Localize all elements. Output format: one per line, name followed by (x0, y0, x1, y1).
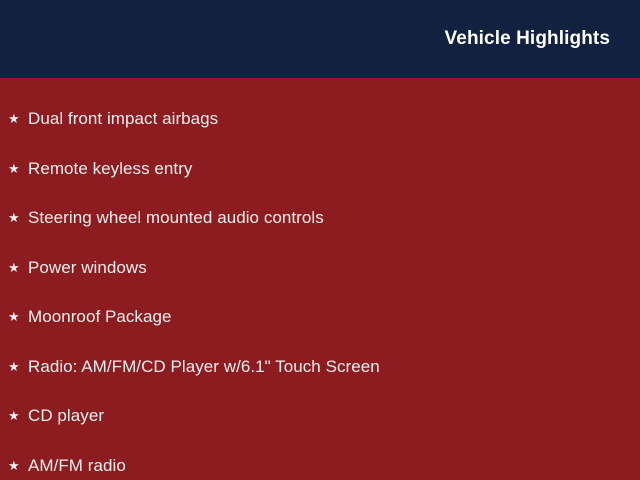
list-item: ★ Remote keyless entry (0, 144, 640, 194)
star-icon: ★ (8, 144, 22, 194)
highlights-panel: ★ Dual front impact airbags ★ Remote key… (0, 78, 640, 480)
list-item-label: Moonroof Package (28, 292, 172, 342)
star-icon: ★ (8, 94, 22, 144)
star-icon: ★ (8, 342, 22, 392)
highlights-list: ★ Dual front impact airbags ★ Remote key… (0, 94, 640, 480)
star-icon: ★ (8, 441, 22, 480)
star-icon: ★ (8, 292, 22, 342)
list-item-label: Radio: AM/FM/CD Player w/6.1" Touch Scre… (28, 342, 380, 392)
list-item-label: Power windows (28, 243, 147, 293)
vehicle-highlights-slide: Vehicle Highlights ★ Dual front impact a… (0, 0, 640, 480)
list-item: ★ CD player (0, 391, 640, 441)
list-item-label: AM/FM radio (28, 441, 126, 480)
star-icon: ★ (8, 391, 22, 441)
header-bar: Vehicle Highlights (0, 0, 640, 78)
page-title: Vehicle Highlights (445, 28, 610, 50)
list-item: ★ Moonroof Package (0, 292, 640, 342)
list-item-label: Remote keyless entry (28, 144, 192, 194)
list-item: ★ Dual front impact airbags (0, 94, 640, 144)
list-item-label: CD player (28, 391, 104, 441)
list-item: ★ Radio: AM/FM/CD Player w/6.1" Touch Sc… (0, 342, 640, 392)
star-icon: ★ (8, 193, 22, 243)
list-item-label: Dual front impact airbags (28, 94, 218, 144)
list-item-label: Steering wheel mounted audio controls (28, 193, 324, 243)
list-item: ★ AM/FM radio (0, 441, 640, 480)
list-item: ★ Steering wheel mounted audio controls (0, 193, 640, 243)
list-item: ★ Power windows (0, 243, 640, 293)
star-icon: ★ (8, 243, 22, 293)
